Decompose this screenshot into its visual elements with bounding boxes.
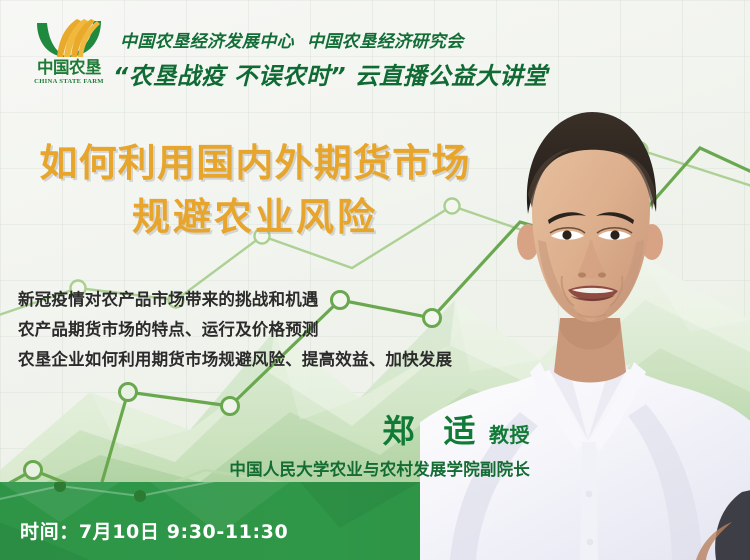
organizer-line: 中国农垦经济发展中心中国农垦经济研究会 <box>120 27 464 52</box>
list-item: 农产品期货市场的特点、运行及价格预测 <box>18 315 452 345</box>
organizer-b: 中国农垦经济研究会 <box>307 32 464 52</box>
speaker-info: 郑 适 教授 中国人民大学农业与农村发展学院副院长 <box>0 406 530 480</box>
title-line-1: 如何利用国内外期货市场 <box>0 136 510 190</box>
list-item: 新冠疫情对农产品市场带来的挑战和机遇 <box>18 285 452 315</box>
campaign-title: “农垦战疫 不误农时” 云直播公益大讲堂 <box>113 57 548 91</box>
page-title: 如何利用国内外期货市场 规避农业风险 <box>0 136 510 244</box>
organizer-a: 中国农垦经济发展中心 <box>120 32 294 52</box>
speaker-name-row: 郑 适 教授 <box>0 406 530 452</box>
logo: 中国农垦 CHINA STATE FARM <box>25 17 113 89</box>
speaker-name: 郑 适 <box>382 412 484 450</box>
event-time: 时间：7月10日 9:30-11:30 <box>20 517 288 544</box>
logo-english-name: CHINA STATE FARM <box>25 78 113 85</box>
logo-chinese-name: 中国农垦 <box>25 59 113 77</box>
topic-list: 新冠疫情对农产品市场带来的挑战和机遇 农产品期货市场的特点、运行及价格预测 农垦… <box>18 285 452 375</box>
list-item: 农垦企业如何利用期货市场规避风险、提高效益、加快发展 <box>18 345 452 375</box>
event-time-label: 时间： <box>20 521 79 543</box>
webinar-poster: 中国农垦 CHINA STATE FARM 中国农垦经济发展中心中国农垦经济研究… <box>0 0 750 560</box>
speaker-affiliation: 中国人民大学农业与农村发展学院副院长 <box>0 456 530 480</box>
title-line-2: 规避农业风险 <box>0 190 510 244</box>
event-time-value: 7月10日 9:30-11:30 <box>79 521 289 543</box>
header: 中国农垦 CHINA STATE FARM 中国农垦经济发展中心中国农垦经济研究… <box>0 0 750 104</box>
speaker-honorific: 教授 <box>489 423 530 447</box>
china-state-farm-leaf-icon <box>33 17 105 59</box>
